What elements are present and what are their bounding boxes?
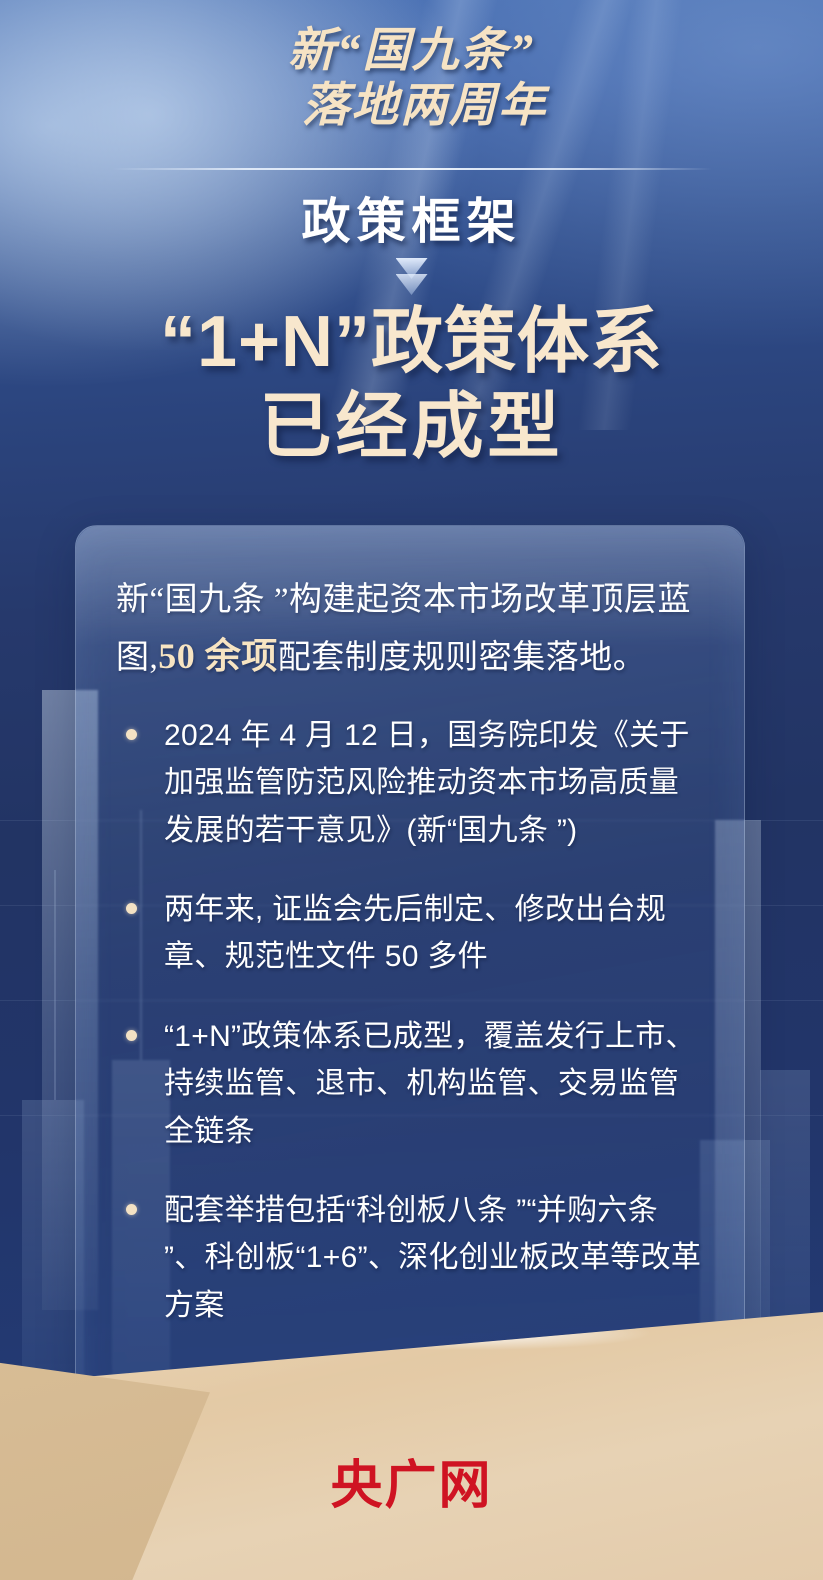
poster-root: 新“国九条” 落地两周年 政策框架 “1+N”政策体系 已经成型 新“国九条 ”… [0,0,823,1580]
chevron-down-icon-2 [396,274,428,295]
bullet-list: 2024 年 4 月 12 日，国务院印发《关于加强监管防范风险推动资本市场高质… [116,712,704,1329]
lead-text-after: 配套制度规则密集落地。 [278,640,647,676]
poster-title-line2: 落地两周年 [26,83,823,130]
bullet-dot-icon [126,903,137,914]
list-item-text: 配套举措包括“科创板八条 ”“并购六条 ”、科创板“1+6”、深化创业板改革等改… [164,1194,701,1322]
title-divider [112,168,712,170]
list-item: “1+N”政策体系已成型，覆盖发行上市、持续监管、退市、机构监管、交易监管全链条 [116,1013,704,1155]
content-card: 新“国九条 ”构建起资本市场改革顶层蓝图,50 余项配套制度规则密集落地。 20… [75,525,745,1415]
background-glow [0,0,460,350]
poster-title-line1: 新“国九条” [0,28,823,75]
list-item-text: “1+N”政策体系已成型，覆盖发行上市、持续监管、退市、机构监管、交易监管全链条 [164,1020,696,1148]
headline-line2: 已经成型 [0,385,823,470]
list-item-text: 两年来, 证监会先后制定、修改出台规章、规范性文件 50 多件 [164,893,666,973]
bullet-dot-icon [126,729,137,740]
chevron-down-icon-1 [396,258,428,279]
list-item: 配套举措包括“科创板八条 ”“并购六条 ”、科创板“1+6”、深化创业板改革等改… [116,1187,704,1329]
section-label: 政策框架 [0,196,823,250]
headline-line1: “1+N”政策体系 [0,300,823,385]
cnr-logo: 央广网 [0,1443,823,1518]
bullet-dot-icon [126,1030,137,1041]
list-item: 两年来, 证监会先后制定、修改出台规章、规范性文件 50 多件 [116,886,704,981]
list-item-text: 2024 年 4 月 12 日，国务院印发《关于加强监管防范风险推动资本市场高质… [164,719,690,847]
chevron-down-double-icon [0,258,823,295]
poster-title: 新“国九条” 落地两周年 [0,28,823,130]
headline: “1+N”政策体系 已经成型 [0,300,823,470]
list-item: 2024 年 4 月 12 日，国务院印发《关于加强监管防范风险推动资本市场高质… [116,712,704,854]
lead-highlight: 50 余项 [158,636,278,676]
lead-paragraph: 新“国九条 ”构建起资本市场改革顶层蓝图,50 余项配套制度规则密集落地。 [116,574,704,686]
bullet-dot-icon [126,1204,137,1215]
